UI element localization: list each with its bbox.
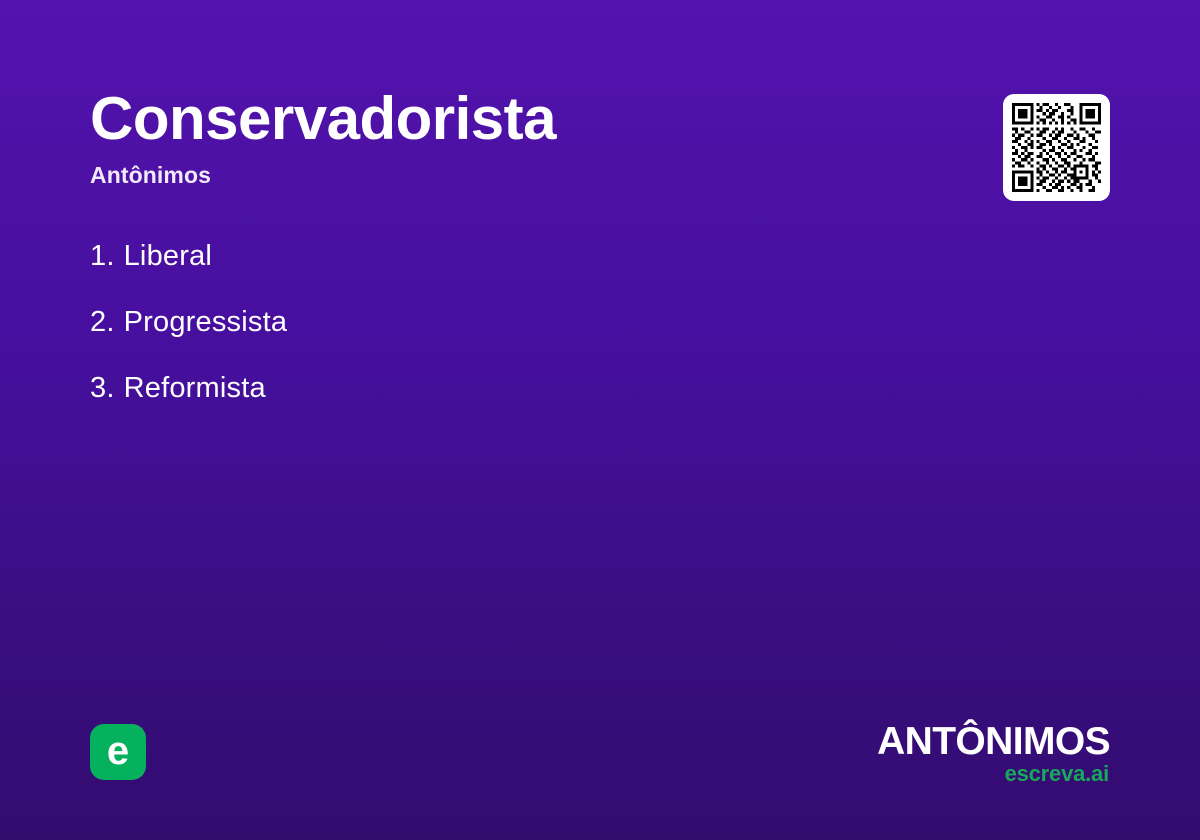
list-item-label: Reformista (124, 372, 266, 404)
app-logo-letter: e (107, 731, 129, 771)
list-item-label: Liberal (124, 240, 212, 272)
list-item-index: 2. (90, 302, 115, 342)
page-title: Conservadorista (90, 88, 950, 150)
list-item-label: Progressista (124, 306, 288, 338)
brand-domain: escreva.ai (877, 763, 1109, 785)
list-item: 2.Progressista (90, 302, 890, 368)
list-item-index: 1. (90, 236, 115, 276)
category-label: Antônimos (90, 162, 950, 189)
app-logo-icon: e (90, 724, 146, 780)
brand-lockup: ANTÔNIMOS escreva.ai (877, 722, 1110, 785)
term-list: 1.Liberal 2.Progressista 3.Reformista (90, 236, 890, 434)
brand-name: ANTÔNIMOS (877, 722, 1110, 761)
headline-block: Conservadorista Antônimos (90, 88, 950, 189)
list-item: 3.Reformista (90, 368, 890, 434)
list-item-index: 3. (90, 368, 115, 408)
qr-code[interactable] (1003, 94, 1110, 201)
share-card: Conservadorista Antônimos 1.Liberal 2.Pr… (0, 0, 1200, 840)
list-item: 1.Liberal (90, 236, 890, 302)
qr-code-icon (1012, 103, 1101, 192)
